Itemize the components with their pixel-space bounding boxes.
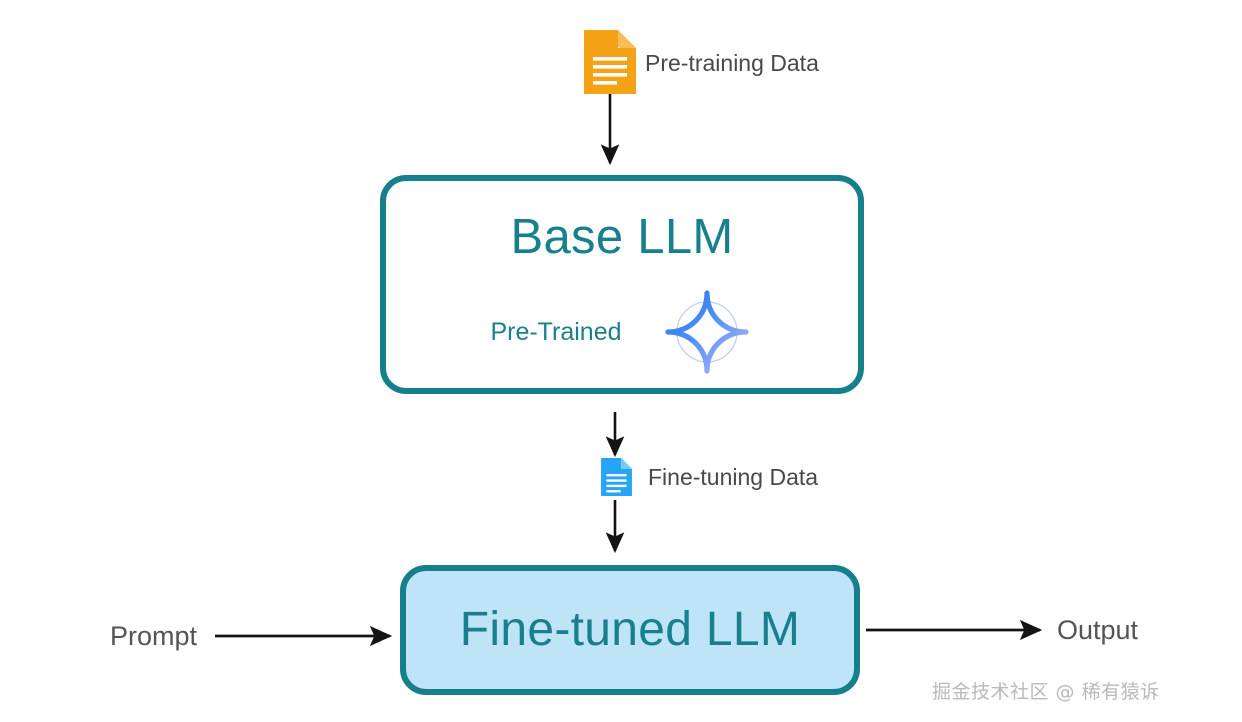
watermark: 掘金技术社区 @ 稀有猿诉 bbox=[932, 683, 1160, 702]
base-llm-box: Base LLM Pre-Trained bbox=[380, 175, 864, 394]
document-icon bbox=[601, 458, 632, 496]
diagram-canvas: Pre-training Data Base LLM Pre-Trained bbox=[0, 0, 1242, 722]
output-label: Output bbox=[1057, 617, 1138, 644]
finetuning-data-label: Fine-tuning Data bbox=[648, 466, 818, 489]
finetuning-data-icon bbox=[601, 458, 632, 496]
base-llm-detail-row: Pre-Trained bbox=[386, 285, 858, 379]
finetuned-llm-title: Fine-tuned LLM bbox=[460, 606, 800, 654]
base-llm-subtitle: Pre-Trained bbox=[490, 320, 621, 345]
pretraining-data-label: Pre-training Data bbox=[645, 52, 819, 75]
prompt-label: Prompt bbox=[110, 623, 197, 650]
base-llm-title: Base LLM bbox=[510, 213, 733, 262]
finetuned-llm-box: Fine-tuned LLM bbox=[400, 565, 860, 695]
sparkle-icon bbox=[660, 285, 754, 379]
document-icon bbox=[584, 30, 636, 94]
pretraining-data-icon bbox=[584, 30, 636, 94]
